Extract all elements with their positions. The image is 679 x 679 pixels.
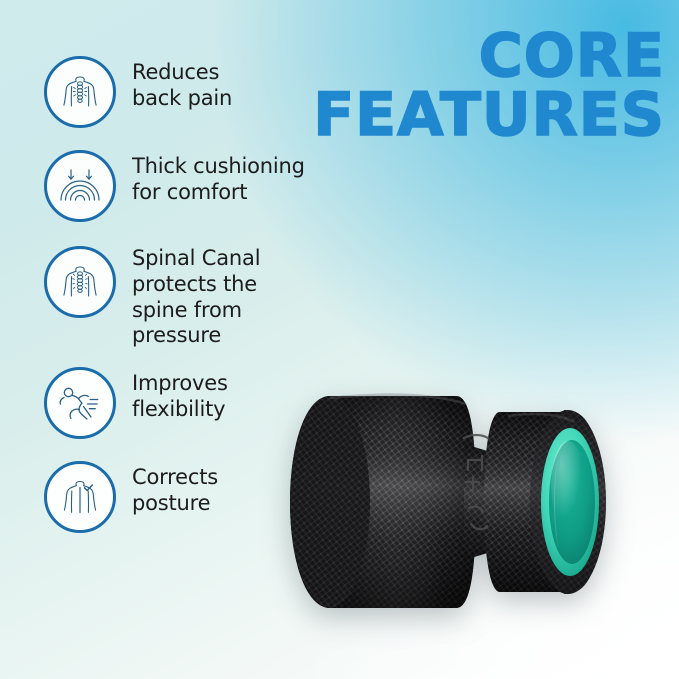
feature-label-line-2: posture [132,491,210,515]
feature-label: Corrects posture [132,461,218,517]
feature-label-line-2: protects the [132,272,257,296]
infographic-canvas: CORE FEATURES [0,0,679,679]
spinal-canal-icon [44,246,116,318]
feature-label-line-1: Thick cushioning [132,154,305,178]
feature-label-line-4: pressure [132,323,221,347]
running-figure-icon [44,367,116,439]
feature-label-line-2: for comfort [132,180,247,204]
feature-label-line-2: back pain [132,86,232,110]
feature-label: Improves flexibility [132,367,228,423]
feature-item-reduces-back-pain: Reduces back pain [44,56,374,128]
feature-label-line-1: Corrects [132,465,218,489]
cushion-arrows-icon [44,150,116,222]
posture-check-icon [44,461,116,533]
feature-label: Spinal Canal protects the spine from pre… [132,246,260,349]
feature-label-line-2: flexibility [132,397,225,421]
feature-item-thick-cushioning: Thick cushioning for comfort [44,150,374,222]
feature-label: Reduces back pain [132,56,232,112]
feature-label: Thick cushioning for comfort [132,150,305,206]
feature-item-spinal-canal: Spinal Canal protects the spine from pre… [44,246,374,349]
product-image-foam-roller [268,352,668,652]
feature-label-line-1: Spinal Canal [132,246,260,270]
feature-label-line-1: Reduces [132,60,219,84]
feature-label-line-1: Improves [132,371,228,395]
back-spine-icon [44,56,116,128]
feature-label-line-3: spine from [132,298,242,322]
